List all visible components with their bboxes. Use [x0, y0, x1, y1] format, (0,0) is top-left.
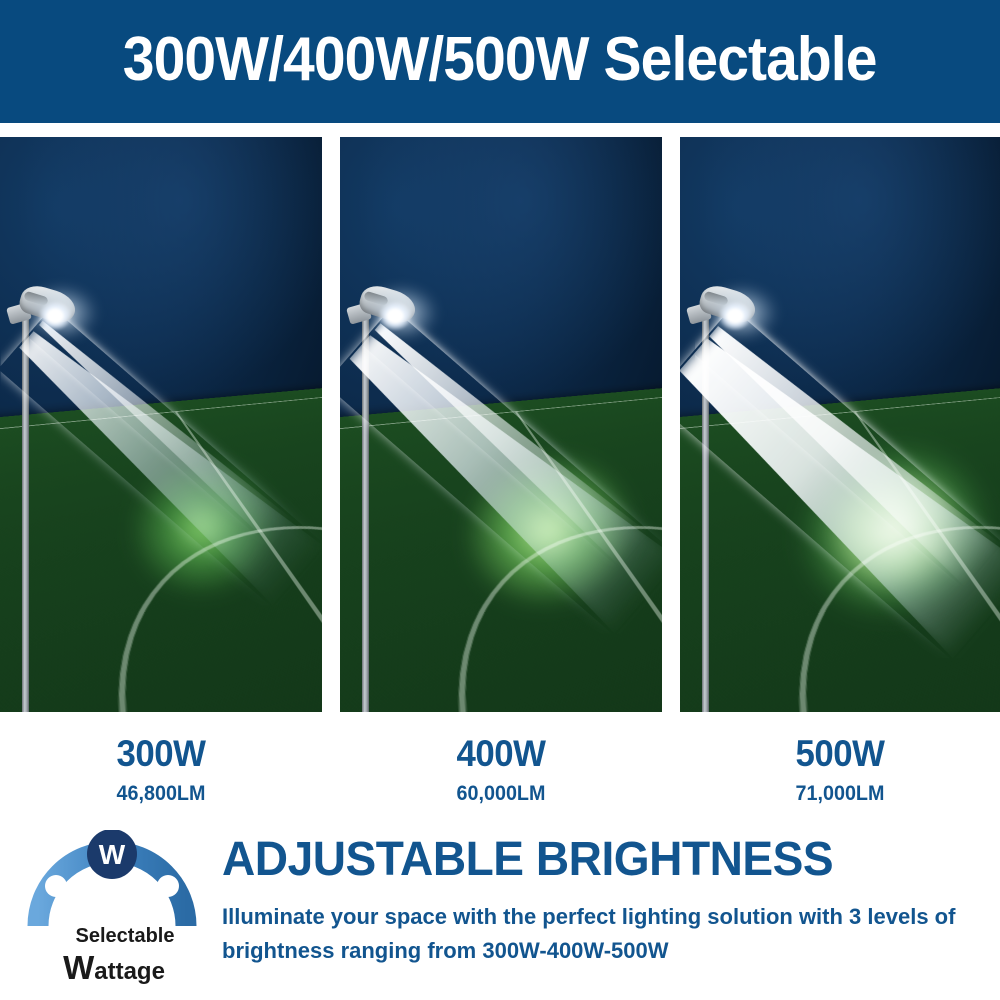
selectable-wattage-badge: W Selectable Wattage — [22, 830, 202, 990]
panel-500w — [680, 137, 1000, 712]
badge-wattage-initial: W — [63, 951, 94, 984]
soccer-field — [0, 402, 322, 713]
badge-caption: Selectable Wattage — [22, 926, 202, 984]
wattage-arc-icon: W — [22, 830, 202, 930]
lumen-value: 46,800LM — [10, 783, 313, 804]
product-feature-image: 300W/400W/500W Selectable — [0, 0, 1000, 1000]
wattage-value: 300W — [10, 735, 313, 772]
lumen-value: 71,000LM — [690, 783, 991, 804]
wattage-labels: 300W 46,800LM 400W 60,000LM 500W 71,000L… — [0, 712, 1000, 822]
panel-300w — [0, 137, 322, 712]
wattage-value: 500W — [690, 735, 991, 772]
light-pole — [362, 304, 369, 712]
feature-body: Illuminate your space with the perfect l… — [222, 900, 964, 968]
lumen-value: 60,000LM — [350, 783, 653, 804]
floodlight-fixture-icon — [8, 289, 80, 329]
panel-400w — [340, 137, 662, 712]
label-column-500w: 500W 71,000LM — [680, 712, 1000, 804]
badge-wattage-rest: attage — [94, 960, 165, 984]
badge-letter: W — [99, 839, 126, 870]
light-pole — [22, 304, 29, 712]
label-column-300w: 300W 46,800LM — [0, 712, 322, 804]
banner-title: 300W/400W/500W Selectable — [123, 29, 877, 95]
wattage-value: 400W — [350, 735, 653, 772]
header-banner: 300W/400W/500W Selectable — [0, 0, 1000, 123]
floodlight-fixture-icon — [688, 289, 760, 329]
feature-headline: ADJUSTABLE BRIGHTNESS — [222, 836, 952, 884]
bottom-section: W Selectable Wattage ADJUSTABLE BRIGHTNE… — [0, 822, 1000, 1000]
badge-line-selectable: Selectable — [22, 926, 202, 946]
scene-panels — [0, 137, 1000, 712]
feature-copy: ADJUSTABLE BRIGHTNESS Illuminate your sp… — [222, 836, 982, 968]
floodlight-fixture-icon — [348, 289, 420, 329]
label-column-400w: 400W 60,000LM — [340, 712, 662, 804]
light-pole — [702, 304, 709, 712]
badge-line-wattage: Wattage — [22, 951, 202, 984]
